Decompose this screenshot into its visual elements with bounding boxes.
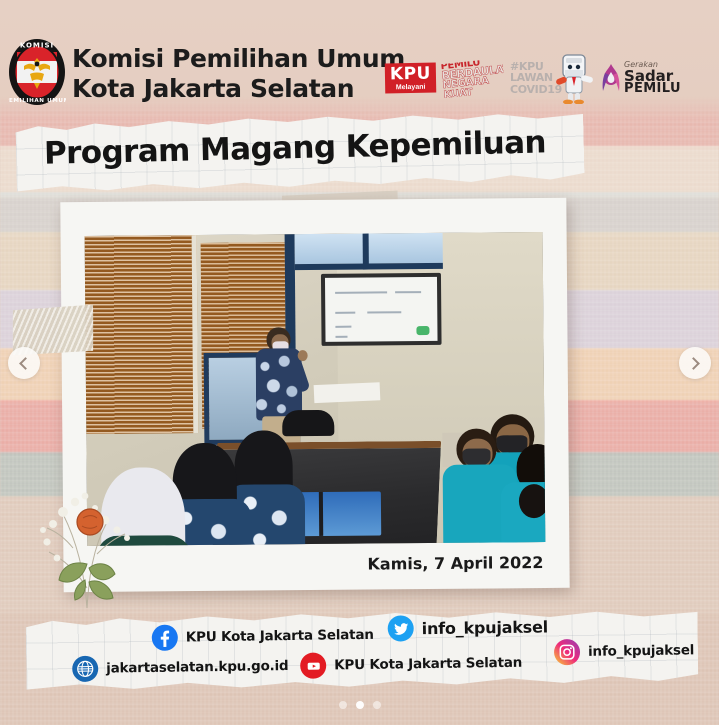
twitter-label: info_kpujaksel [422,617,549,638]
website-link[interactable]: jakartaselatan.kpu.go.id [72,653,289,682]
footer-banner: jakartaselatan.kpu.go.id KPU Kota Jakart… [26,607,699,692]
photo-scene [85,232,546,546]
carousel-dot[interactable] [373,701,381,709]
event-photo [85,232,546,546]
campaign-logo-group: KPU Melayani PEMILU BERDAULAT NEGARA KUA… [385,48,681,108]
instagram-link[interactable]: info_kpujaksel [554,637,694,665]
kpu-melayani-sub: Melayani [396,84,426,92]
facebook-icon [152,625,178,651]
dried-flower-decoration [33,468,141,613]
organization-title: Komisi Pemilihan Umum Kota Jakarta Selat… [72,44,405,104]
instagram-label: info_kpujaksel [588,642,694,659]
chevron-left-icon [19,357,32,370]
carousel-prev-button[interactable] [8,347,40,379]
kpu-melayani-logo: KPU Melayani [385,63,436,94]
kpu-logo-icon: KOMISI PEMILIHAN UMUM [8,38,66,106]
flame-icon [600,63,622,93]
chevron-right-icon [687,357,700,370]
globe-icon [72,656,98,682]
instagram-icon [554,639,580,665]
whiteboard [321,273,442,346]
post-header: KOMISI PEMILIHAN UMUM Komisi Pemilihan U… [0,0,719,120]
org-line-1: Komisi Pemilihan Umum [72,44,405,74]
org-line-2: Kota Jakarta Selatan [72,74,405,104]
carousel-next-button[interactable] [679,347,711,379]
instagram-post-slide: KOMISI PEMILIHAN UMUM Komisi Pemilihan U… [0,0,719,725]
svg-text:KOMISI: KOMISI [20,42,54,50]
youtube-link[interactable]: KPU Kota Jakarta Selatan [300,650,522,679]
website-label: jakartaselatan.kpu.go.id [106,658,288,677]
youtube-icon [300,653,326,679]
title-banner: Program Magang Kepemiluan [15,110,584,195]
social-media-links: jakartaselatan.kpu.go.id KPU Kota Jakart… [26,607,699,692]
kpu-mascot-icon [554,52,594,104]
facebook-label: KPU Kota Jakarta Selatan [186,627,374,646]
youtube-label: KPU Kota Jakarta Selatan [334,655,522,674]
berdaulat-line-3: NEGARA KUAT [442,75,505,98]
svg-text:PEMILIHAN UMUM: PEMILIHAN UMUM [8,98,66,104]
pemilu-berdaulat-logo: PEMILU BERDAULAT NEGARA KUAT [440,58,505,98]
facebook-link[interactable]: KPU Kota Jakarta Selatan [152,622,374,651]
carousel-dot-active[interactable] [356,701,364,709]
twitter-link[interactable]: info_kpujaksel [388,613,549,641]
carousel-dots [0,701,719,709]
sadar-line-2: PEMILU [624,83,681,95]
twitter-icon [388,615,414,641]
carousel-dot[interactable] [339,701,347,709]
kpu-melayani-main: KPU [390,66,431,84]
gerakan-sadar-pemilu-logo: Gerakan Sadar PEMILU [600,61,681,95]
